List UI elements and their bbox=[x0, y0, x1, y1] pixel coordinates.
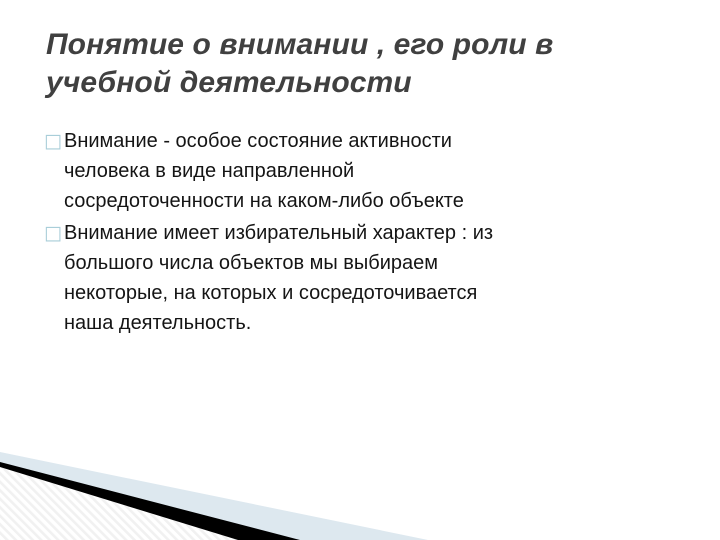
bullet-square-icon: □ bbox=[44, 126, 64, 156]
list-item-text: Внимание - особое состояние активности ч… bbox=[64, 126, 694, 216]
body-content: □ Внимание - особое состояние активности… bbox=[44, 126, 694, 340]
page-title: Понятие о внимании , его роли в учебной … bbox=[46, 26, 694, 102]
hatched-triangle bbox=[0, 454, 352, 540]
hairline-edge bbox=[0, 454, 322, 540]
bullet-square-icon: □ bbox=[44, 218, 64, 248]
black-wedge bbox=[0, 457, 322, 540]
title-block: Понятие о внимании , его роли в учебной … bbox=[46, 26, 694, 102]
pale-blue-triangle bbox=[0, 452, 428, 540]
slide-canvas: Понятие о внимании , его роли в учебной … bbox=[0, 0, 720, 540]
list-item: □ Внимание - особое состояние активности… bbox=[44, 126, 694, 216]
list-item: □ Внимание имеет избирательный характер … bbox=[44, 218, 694, 338]
list-item-text: Внимание имеет избирательный характер : … bbox=[64, 218, 694, 338]
